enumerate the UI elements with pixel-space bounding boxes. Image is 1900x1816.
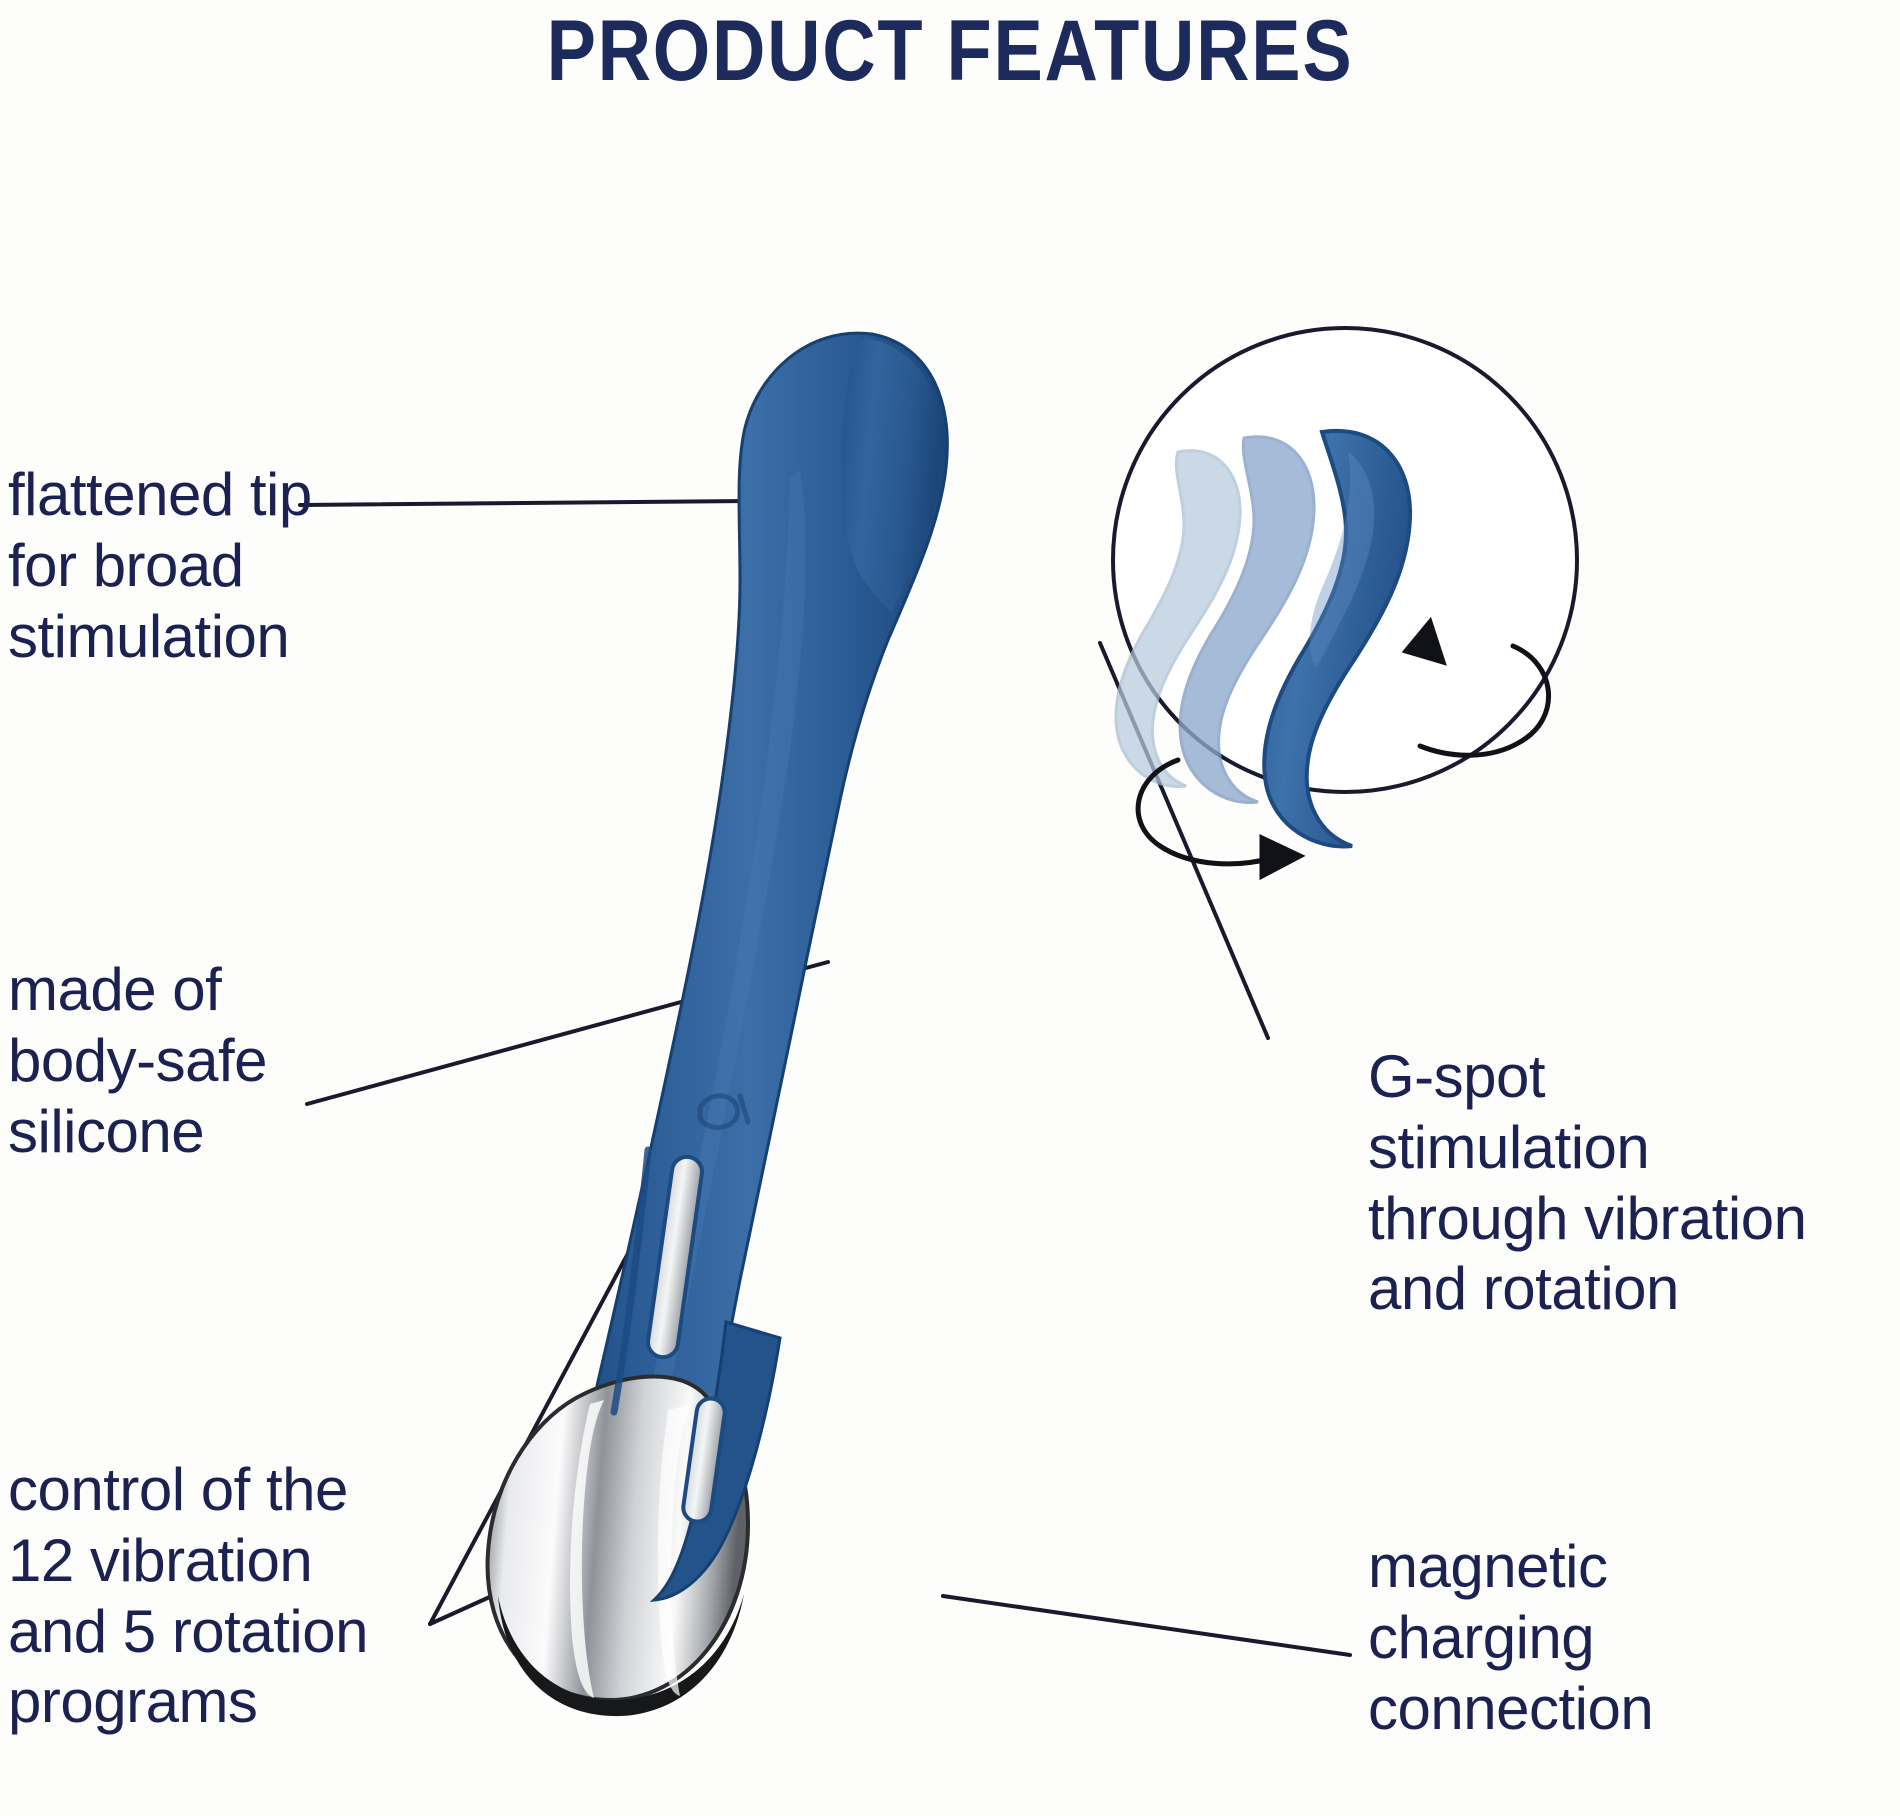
callout-vibration-rotation-programs: control of the 12 vibration and 5 rotati…: [8, 1455, 488, 1738]
page-title: PRODUCT FEATURES: [133, 2, 1767, 101]
leader-line-gspot: [1100, 643, 1268, 1038]
callout-body-safe-silicone: made of body-safe silicone: [8, 955, 438, 1167]
button-channel: [614, 1150, 648, 1412]
callout-flattened-tip: flattened tip for broad stimulation: [8, 460, 438, 672]
rotation-arrow-bottom-left-head: [1262, 838, 1300, 876]
product-sheen: [606, 470, 806, 1576]
rotation-arrows: [1138, 622, 1548, 876]
charging-base-rim: [498, 1594, 744, 1716]
detail-circle-outline: [1113, 328, 1577, 792]
charging-base-highlight-2: [658, 1404, 692, 1696]
callout-gspot-stimulation: G-spot stimulation through vibration and…: [1368, 1042, 1900, 1325]
embossed-logo-icon: [700, 1096, 748, 1128]
rotation-arrow-top-right-head: [1406, 622, 1443, 662]
product-body: [488, 333, 948, 1716]
rotation-ghost-2: [1180, 437, 1314, 803]
rotation-tip-sheen: [1310, 452, 1374, 668]
rotation-arrow-top-right-path: [1420, 646, 1549, 755]
product-tip: [841, 338, 944, 612]
product-skirt: [654, 1322, 780, 1600]
charging-base-highlight: [570, 1400, 604, 1698]
rotation-ghost-1: [1116, 451, 1240, 787]
product-shaft: [565, 333, 947, 1606]
leader-line-magnetic: [943, 1596, 1350, 1655]
product-features-infographic: PRODUCT FEATURES: [0, 0, 1900, 1816]
upper-control-button[interactable]: [646, 1155, 704, 1359]
callout-magnetic-charging: magnetic charging connection: [1368, 1532, 1888, 1744]
rotation-tip-solid: [1264, 431, 1410, 846]
charging-base: [488, 1377, 748, 1700]
lower-control-button[interactable]: [682, 1397, 727, 1524]
rotation-detail-circle: [1113, 328, 1577, 876]
rotation-arrow-bottom-left-path: [1138, 760, 1272, 864]
